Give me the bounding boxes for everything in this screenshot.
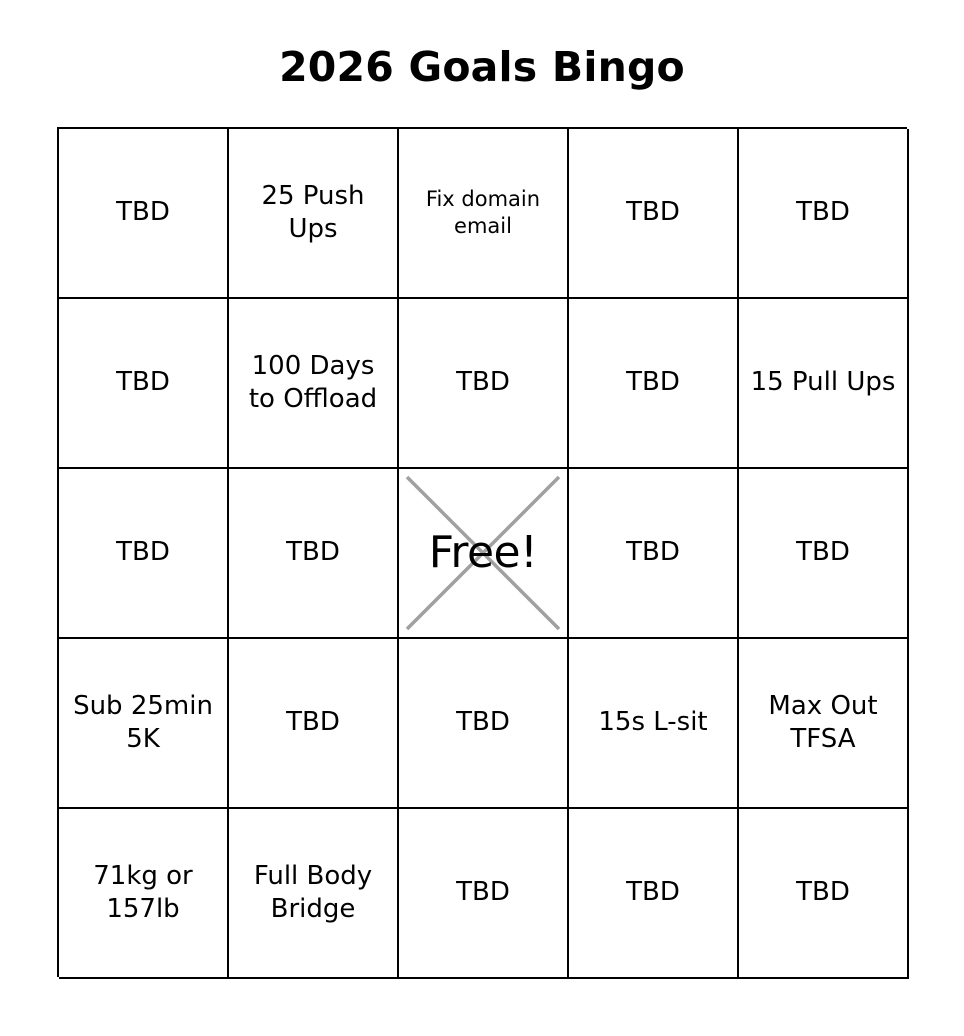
- bingo-cell-label: Full Body Bridge: [235, 860, 391, 927]
- bingo-cell[interactable]: Full Body Bridge: [229, 809, 399, 979]
- bingo-cell-label: TBD: [575, 366, 731, 399]
- bingo-cell-label: 15s L-sit: [575, 706, 731, 739]
- bingo-cell-label: TBD: [575, 876, 731, 909]
- bingo-cell[interactable]: TBD: [569, 129, 739, 299]
- bingo-cell-free[interactable]: Free!: [399, 469, 569, 639]
- bingo-cell[interactable]: TBD: [739, 129, 909, 299]
- bingo-cell-label: TBD: [235, 536, 391, 569]
- bingo-cell[interactable]: TBD: [739, 809, 909, 979]
- bingo-cell[interactable]: TBD: [229, 469, 399, 639]
- bingo-card-page: 2026 Goals Bingo TBD25 Push UpsFix domai…: [0, 0, 964, 1036]
- bingo-cell[interactable]: TBD: [229, 639, 399, 809]
- bingo-cell[interactable]: TBD: [569, 299, 739, 469]
- bingo-cell-label: Sub 25min 5K: [65, 690, 221, 757]
- bingo-cell[interactable]: 71kg or 157lb: [59, 809, 229, 979]
- bingo-cell[interactable]: TBD: [59, 469, 229, 639]
- bingo-cell-label: TBD: [65, 366, 221, 399]
- bingo-cell[interactable]: Fix domain email: [399, 129, 569, 299]
- bingo-cell-label: TBD: [65, 196, 221, 229]
- bingo-cell-label: TBD: [405, 706, 561, 739]
- bingo-cell[interactable]: 100 Days to Offload: [229, 299, 399, 469]
- bingo-cell[interactable]: 15 Pull Ups: [739, 299, 909, 469]
- bingo-cell-label: TBD: [405, 366, 561, 399]
- bingo-cell-label: TBD: [745, 876, 901, 909]
- bingo-cell[interactable]: TBD: [59, 299, 229, 469]
- page-title: 2026 Goals Bingo: [0, 47, 964, 88]
- bingo-grid: TBD25 Push UpsFix domain emailTBDTBDTBD1…: [57, 127, 907, 977]
- bingo-cell-label: Free!: [405, 530, 561, 576]
- bingo-cell[interactable]: TBD: [739, 469, 909, 639]
- bingo-cell-label: 25 Push Ups: [235, 180, 391, 247]
- bingo-cell-label: 71kg or 157lb: [65, 860, 221, 927]
- bingo-cell-label: TBD: [575, 196, 731, 229]
- bingo-cell[interactable]: TBD: [399, 299, 569, 469]
- bingo-cell-label: Fix domain email: [405, 186, 561, 241]
- bingo-cell-label: TBD: [745, 536, 901, 569]
- bingo-cell-label: TBD: [65, 536, 221, 569]
- bingo-cell-label: TBD: [405, 876, 561, 909]
- bingo-cell[interactable]: TBD: [569, 809, 739, 979]
- bingo-cell[interactable]: Sub 25min 5K: [59, 639, 229, 809]
- bingo-cell-label: Max Out TFSA: [745, 690, 901, 757]
- bingo-cell[interactable]: TBD: [569, 469, 739, 639]
- bingo-cell-label: TBD: [575, 536, 731, 569]
- bingo-cell[interactable]: TBD: [399, 809, 569, 979]
- bingo-cell[interactable]: 15s L-sit: [569, 639, 739, 809]
- bingo-cell[interactable]: 25 Push Ups: [229, 129, 399, 299]
- bingo-cell[interactable]: Max Out TFSA: [739, 639, 909, 809]
- bingo-cell-label: TBD: [235, 706, 391, 739]
- bingo-cell-label: TBD: [745, 196, 901, 229]
- bingo-cell[interactable]: TBD: [59, 129, 229, 299]
- bingo-cell-label: 100 Days to Offload: [235, 350, 391, 417]
- bingo-cell-label: 15 Pull Ups: [745, 366, 901, 399]
- bingo-cell[interactable]: TBD: [399, 639, 569, 809]
